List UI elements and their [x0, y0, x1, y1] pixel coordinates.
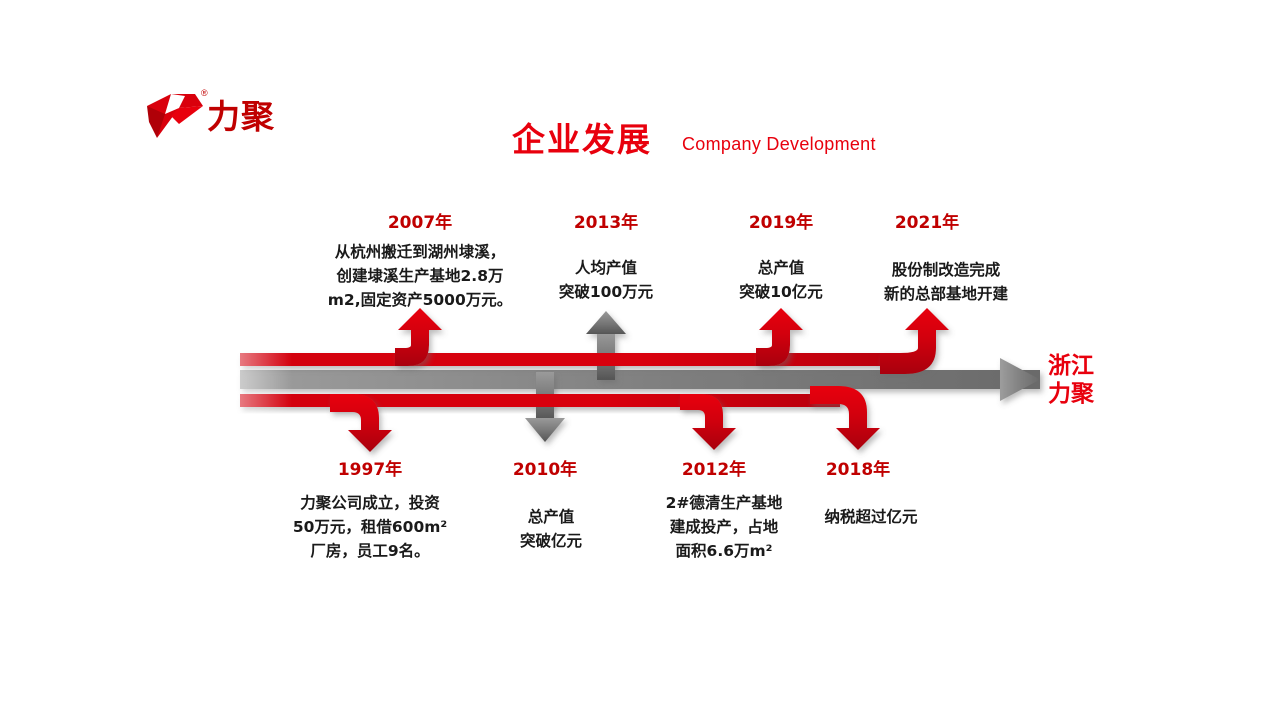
year-label-1997: 1997年 — [338, 455, 402, 480]
event-desc-1997: 力聚公司成立，投资 50万元，租借600m² 厂房，员工9名。 — [293, 491, 447, 563]
branch-down-2018 — [810, 386, 880, 450]
year-label-2012: 2012年 — [682, 455, 746, 480]
event-desc-line: 2#德清生产基地 — [666, 491, 783, 515]
event-desc-2010: 总产值 突破亿元 — [520, 505, 582, 553]
event-desc-2018: 纳税超过亿元 — [824, 505, 917, 529]
end-label-line2: 力聚 — [1048, 380, 1094, 408]
timeline-end-label: 浙江 力聚 — [1048, 352, 1094, 408]
event-desc-2021: 股份制改造完成 新的总部基地开建 — [884, 258, 1008, 306]
event-desc-line: 创建埭溪生产基地2.8万 — [328, 264, 512, 288]
event-desc-line: 总产值 — [520, 505, 582, 529]
year-label-2018: 2018年 — [826, 455, 890, 480]
event-desc-line: 新的总部基地开建 — [884, 282, 1008, 306]
slide-canvas: ® 力聚 企业发展 Company Development — [0, 0, 1280, 720]
event-desc-2007: 从杭州搬迁到湖州埭溪， 创建埭溪生产基地2.8万 m2,固定资产5000万元。 — [328, 240, 512, 312]
event-desc-line: m2,固定资产5000万元。 — [328, 288, 512, 312]
event-desc-line: 50万元，租借600m² — [293, 515, 447, 539]
event-desc-2012: 2#德清生产基地 建成投产，占地 面积6.6万m² — [666, 491, 783, 563]
end-label-line1: 浙江 — [1048, 352, 1094, 380]
event-desc-2013: 人均产值 突破100万元 — [559, 256, 653, 304]
event-desc-line: 建成投产，占地 — [666, 515, 783, 539]
event-desc-line: 突破10亿元 — [739, 280, 823, 304]
year-label-2021: 2021年 — [895, 208, 959, 233]
year-label-2013: 2013年 — [574, 208, 638, 233]
event-desc-line: 突破亿元 — [520, 529, 582, 553]
event-desc-line: 人均产值 — [559, 256, 653, 280]
event-desc-line: 从杭州搬迁到湖州埭溪， — [328, 240, 512, 264]
event-desc-line: 厂房，员工9名。 — [293, 539, 447, 563]
event-desc-2019: 总产值 突破10亿元 — [739, 256, 823, 304]
event-desc-line: 力聚公司成立，投资 — [293, 491, 447, 515]
year-label-2019: 2019年 — [749, 208, 813, 233]
event-desc-line: 股份制改造完成 — [884, 258, 1008, 282]
event-desc-line: 面积6.6万m² — [666, 539, 783, 563]
left-fade-overlay — [232, 345, 292, 415]
year-label-2007: 2007年 — [388, 208, 452, 233]
event-desc-line: 纳税超过亿元 — [824, 505, 917, 529]
year-label-2010: 2010年 — [513, 455, 577, 480]
event-desc-line: 突破100万元 — [559, 280, 653, 304]
event-desc-line: 总产值 — [739, 256, 823, 280]
